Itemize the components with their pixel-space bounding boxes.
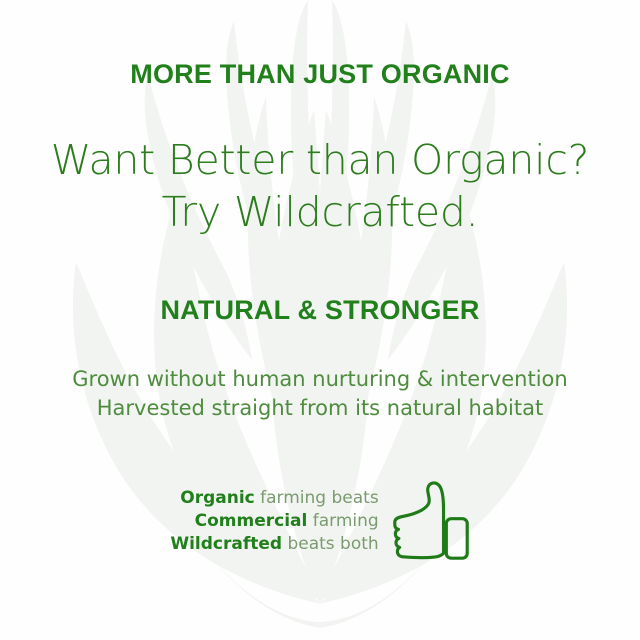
claim-strong-organic: Organic (180, 488, 254, 508)
headline-line-1: Want Better than Organic? (0, 134, 640, 186)
body-copy-line-1: Grown without human nurturing & interven… (0, 365, 640, 394)
poster-content: MORE THAN JUST ORGANIC Want Better than … (0, 0, 640, 640)
claim-strong-commercial: Commercial (195, 511, 308, 531)
claim-line-commercial: Commercial farming (170, 510, 378, 533)
claim-text: Organic farming beats Commercial farming… (170, 487, 378, 556)
claim-strong-wildcrafted: Wildcrafted (170, 534, 282, 554)
thumbs-up-icon (392, 480, 470, 562)
claim-rest-organic: farming beats (255, 488, 379, 508)
claim-rest-wildcrafted: beats both (282, 534, 379, 554)
body-copy: Grown without human nurturing & interven… (0, 365, 640, 423)
poster-canvas: MORE THAN JUST ORGANIC Want Better than … (0, 0, 640, 640)
claim-block: Organic farming beats Commercial farming… (0, 480, 640, 562)
eyebrow-heading: MORE THAN JUST ORGANIC (0, 60, 640, 90)
body-copy-line-2: Harvested straight from its natural habi… (0, 394, 640, 423)
claim-rest-commercial: farming (307, 511, 378, 531)
headline-line-2: Try Wildcrafted. (0, 186, 640, 238)
claim-line-organic: Organic farming beats (170, 487, 378, 510)
subheading: NATURAL & STRONGER (0, 296, 640, 326)
claim-line-wildcrafted: Wildcrafted beats both (170, 533, 378, 556)
page-title: Want Better than Organic? Try Wildcrafte… (0, 134, 640, 238)
